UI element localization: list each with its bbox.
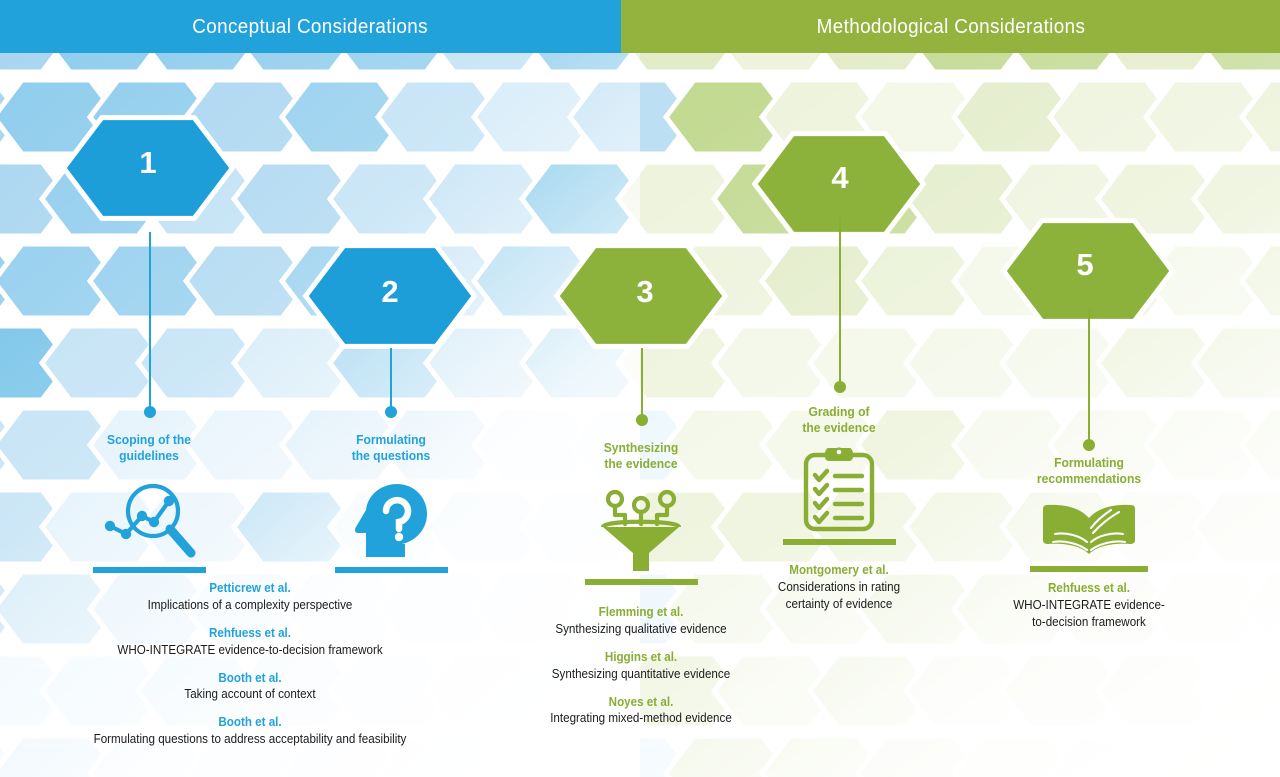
connector-dot-4	[834, 381, 846, 393]
head-question-icon	[348, 481, 434, 559]
reference-description: Integrating mixed-method evidence	[521, 710, 761, 727]
step-column-1: Scoping of the guidelines	[20, 432, 278, 573]
reference-author: Booth et al.	[27, 714, 473, 731]
reference-description: Synthesizing quantitative evidence	[521, 666, 761, 683]
reference-author: Petticrew et al.	[27, 580, 473, 597]
reference-item: Petticrew et al. Implications of a compl…	[10, 580, 490, 614]
step-5-title: Formulating recommendations	[969, 455, 1209, 488]
reference-item: Noyes et al. Integrating mixed-method ev…	[512, 694, 770, 728]
clipboard-checklist-icon	[802, 447, 876, 533]
reference-item: Higgins et al. Synthesizing quantitative…	[512, 649, 770, 683]
step-5-title-line-2: recommendations	[969, 471, 1209, 487]
header-title-methodological: Methodological Considerations	[816, 15, 1085, 39]
step-column-5: Formulating recommendations	[960, 455, 1218, 572]
reference-author: Higgins et al.	[521, 649, 761, 666]
magnifier-chart-icon	[97, 481, 201, 559]
numbered-hexagon-5	[1004, 221, 1173, 322]
reference-item: Rehfuess et al. WHO-INTEGRATE evidence- …	[960, 580, 1218, 631]
step-4-rule	[783, 539, 896, 545]
step-1-title-line-1: Scoping of the	[29, 432, 269, 448]
reference-description: Synthesizing qualitative evidence	[521, 621, 761, 638]
reference-description-line-1: Considerations in rating	[719, 579, 959, 596]
step-5-icon-wrap	[960, 500, 1218, 562]
reference-description-line-2: to-decision framework	[969, 614, 1209, 631]
reference-item: Booth et al. Formulating questions to ad…	[10, 714, 490, 748]
connector-stem-1	[149, 232, 151, 412]
step-4-title-line-1: Grading of	[719, 404, 959, 420]
connector-dot-2	[385, 406, 397, 418]
step-5-references: Rehfuess et al. WHO-INTEGRATE evidence- …	[960, 578, 1218, 631]
reference-item: Booth et al. Taking account of context	[10, 670, 490, 704]
step-4-icon-wrap	[710, 445, 968, 533]
reference-author: Montgomery et al.	[719, 562, 959, 579]
step-column-4: Grading of the evidence	[710, 404, 968, 545]
connector-stem-2	[390, 348, 392, 413]
connector-stem-5	[1088, 310, 1090, 445]
step-4-title-line-2: the evidence	[719, 420, 959, 436]
reference-author: Noyes et al.	[521, 694, 761, 711]
step-2-title: Formulating the questions	[271, 432, 511, 465]
header-band-conceptual: Conceptual Considerations	[0, 0, 621, 53]
connector-dot-3	[636, 414, 648, 426]
step-2-title-line-2: the questions	[271, 448, 511, 464]
header-title-conceptual: Conceptual Considerations	[193, 15, 429, 39]
step-1-rule	[93, 567, 206, 573]
reference-item: Rehfuess et al. WHO-INTEGRATE evidence-t…	[10, 625, 490, 659]
header-band-methodological: Methodological Considerations	[621, 0, 1280, 53]
step-2-title-line-1: Formulating	[271, 432, 511, 448]
reference-description-line-1: WHO-INTEGRATE evidence-	[969, 597, 1209, 614]
step-5-rule	[1030, 566, 1148, 572]
step-3-rule	[585, 579, 698, 585]
reference-description: Formulating questions to address accepta…	[27, 731, 473, 748]
numbered-hexagon-1	[64, 118, 233, 219]
reference-description-line-2: certainty of evidence	[719, 596, 959, 613]
connector-dot-1	[144, 406, 156, 418]
step-1-icon-wrap	[20, 475, 278, 559]
reference-item: Montgomery et al. Considerations in rati…	[710, 562, 968, 613]
step-2-icon-wrap	[262, 475, 520, 559]
step-1-title: Scoping of the guidelines	[29, 432, 269, 465]
reference-description: Taking account of context	[27, 686, 473, 703]
step-2-rule	[335, 567, 448, 573]
infographic-canvas: Conceptual Considerations Methodological…	[0, 0, 1280, 777]
connector-dot-5	[1083, 439, 1095, 451]
reference-description: WHO-INTEGRATE evidence-to-decision frame…	[27, 642, 473, 659]
step-3-references: Flemming et al. Synthesizing qualitative…	[512, 602, 770, 727]
step-1-title-line-2: guidelines	[29, 448, 269, 464]
step-5-title-line-1: Formulating	[969, 455, 1209, 471]
numbered-hexagon-3	[557, 246, 726, 347]
step-column-2: Formulating the questions	[262, 432, 520, 573]
reference-author: Rehfuess et al.	[27, 625, 473, 642]
step-4-title: Grading of the evidence	[719, 404, 959, 437]
reference-description: Implications of a complexity perspective	[27, 597, 473, 614]
connector-stem-4	[839, 216, 841, 386]
reference-author: Rehfuess et al.	[969, 580, 1209, 597]
funnel-icon	[595, 489, 687, 575]
connector-stem-3	[641, 348, 643, 420]
step-4-references: Montgomery et al. Considerations in rati…	[710, 560, 968, 613]
numbered-hexagon-2	[306, 246, 475, 347]
step-1-references: Petticrew et al. Implications of a compl…	[10, 578, 490, 748]
reference-author: Booth et al.	[27, 670, 473, 687]
open-book-icon	[1033, 504, 1145, 562]
